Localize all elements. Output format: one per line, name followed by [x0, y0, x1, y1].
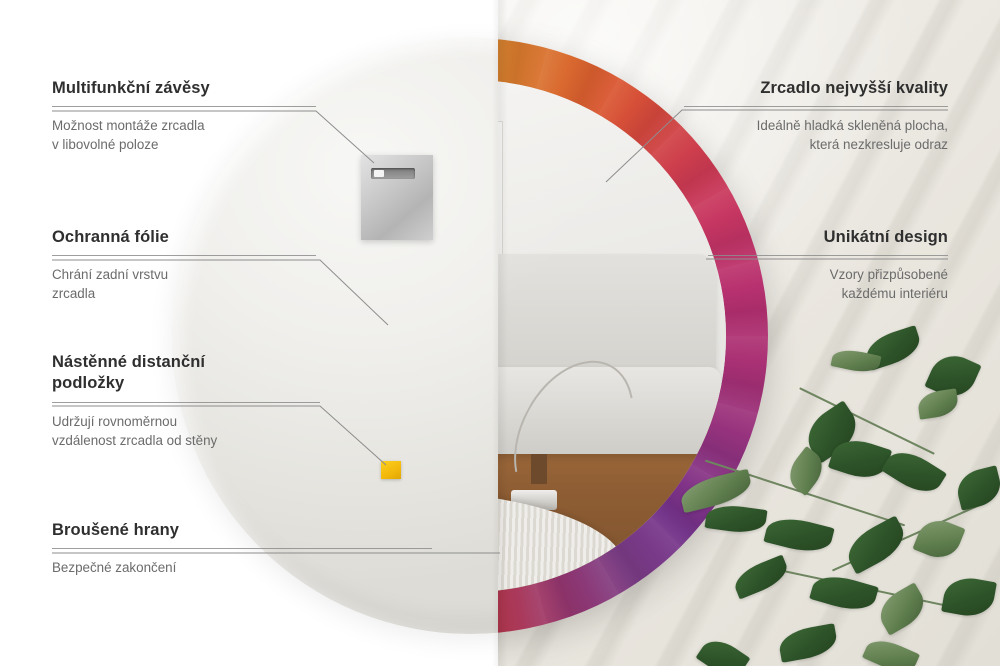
- plant-leaf: [763, 513, 834, 558]
- callout-description: Chrání zadní vrstvu zrcadla: [52, 265, 316, 303]
- bracket-keyhole-slot: [371, 168, 415, 179]
- plant-leaf: [777, 624, 839, 664]
- callout-title: Zrcadlo nejvyšší kvality: [684, 78, 948, 99]
- hanging-bracket-plate: [361, 155, 433, 240]
- callout-description: Udržují rovnoměrnou vzdálenost zrcadla o…: [52, 412, 320, 450]
- callout-ochranna-folie: Ochranná fólie Chrání zadní vrstvu zrcad…: [52, 227, 316, 304]
- callout-rule: [52, 548, 432, 549]
- callout-description: Možnost montáže zrcadla v libovolné polo…: [52, 116, 316, 154]
- callout-title: Unikátní design: [708, 227, 948, 248]
- callout-title: Ochranná fólie: [52, 227, 316, 248]
- plant-leaf: [912, 514, 965, 565]
- callout-brousene-hrany: Broušené hrany Bezpečné zakončení: [52, 520, 432, 577]
- callout-rule: [52, 255, 316, 256]
- callout-description: Vzory přizpůsobené každému interiéru: [708, 265, 948, 303]
- product-infographic: Multifunkční závěsy Možnost montáže zrca…: [0, 0, 1000, 666]
- callout-zrcadlo-nejvyssi-kvality: Zrcadlo nejvyšší kvality Ideálně hladká …: [684, 78, 948, 155]
- plant-leaf: [705, 502, 768, 536]
- callout-rule: [52, 106, 316, 107]
- plant-leaf: [941, 574, 997, 620]
- callout-description: Bezpečné zakončení: [52, 558, 432, 577]
- callout-rule: [684, 106, 948, 107]
- callout-description: Ideálně hladká skleněná plocha, která ne…: [684, 116, 948, 154]
- plant-leaf: [916, 388, 959, 419]
- callout-unikatni-design: Unikátní design Vzory přizpůsobené každé…: [708, 227, 948, 304]
- callout-multifunkcni-zavesy: Multifunkční závěsy Možnost montáže zrca…: [52, 78, 316, 155]
- callout-title: Nástěnné distanční podložky: [52, 352, 320, 395]
- half-split-shadow: [492, 0, 508, 666]
- callout-nastenne-distancni-podlozky: Nástěnné distanční podložky Udržují rovn…: [52, 352, 320, 450]
- callout-title: Multifunkční závěsy: [52, 78, 316, 99]
- plant-leaf: [730, 554, 792, 599]
- plant-leaf: [953, 465, 1000, 511]
- callout-title: Broušené hrany: [52, 520, 432, 541]
- callout-rule: [708, 255, 948, 256]
- yellow-spacer-pad: [381, 461, 401, 479]
- plant-leaf: [695, 632, 750, 666]
- callout-rule: [52, 402, 320, 403]
- plant-leaf: [862, 633, 920, 666]
- decorative-plant: [680, 326, 1000, 666]
